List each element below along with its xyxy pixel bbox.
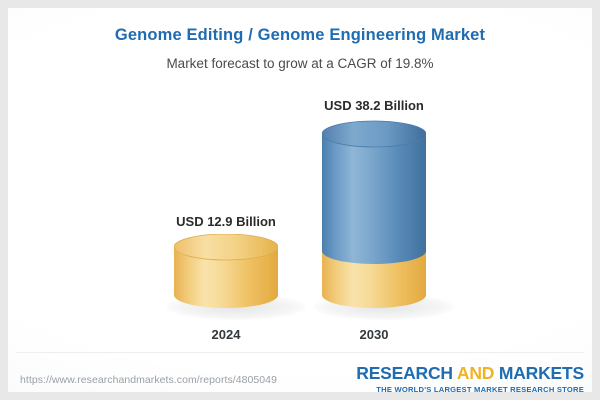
plot-area: USD 12.9 Billion 2024 [8,8,592,392]
bar-cylinder-2030[interactable] [322,118,426,308]
logo-wordmark: RESEARCH AND MARKETS [356,363,584,384]
research-and-markets-logo[interactable]: RESEARCH AND MARKETS THE WORLD'S LARGEST… [356,363,584,394]
value-label-2024: USD 12.9 Billion [146,214,306,229]
logo-word-research: RESEARCH [356,363,457,383]
bar-cylinder-2024[interactable] [174,234,278,308]
value-label-2030: USD 38.2 Billion [294,98,454,113]
cylinder-graphic-2030 [322,118,426,308]
footer-divider [16,352,584,353]
chart-card: Genome Editing / Genome Engineering Mark… [8,8,592,392]
logo-word-and: AND [457,363,499,383]
category-label-2024: 2024 [166,327,286,342]
logo-word-markets: MARKETS [499,363,584,383]
cylinder-graphic-2024 [174,234,278,308]
category-label-2030: 2030 [314,327,434,342]
report-url-link[interactable]: https://www.researchandmarkets.com/repor… [20,374,277,386]
logo-tagline: THE WORLD'S LARGEST MARKET RESEARCH STOR… [356,385,584,394]
